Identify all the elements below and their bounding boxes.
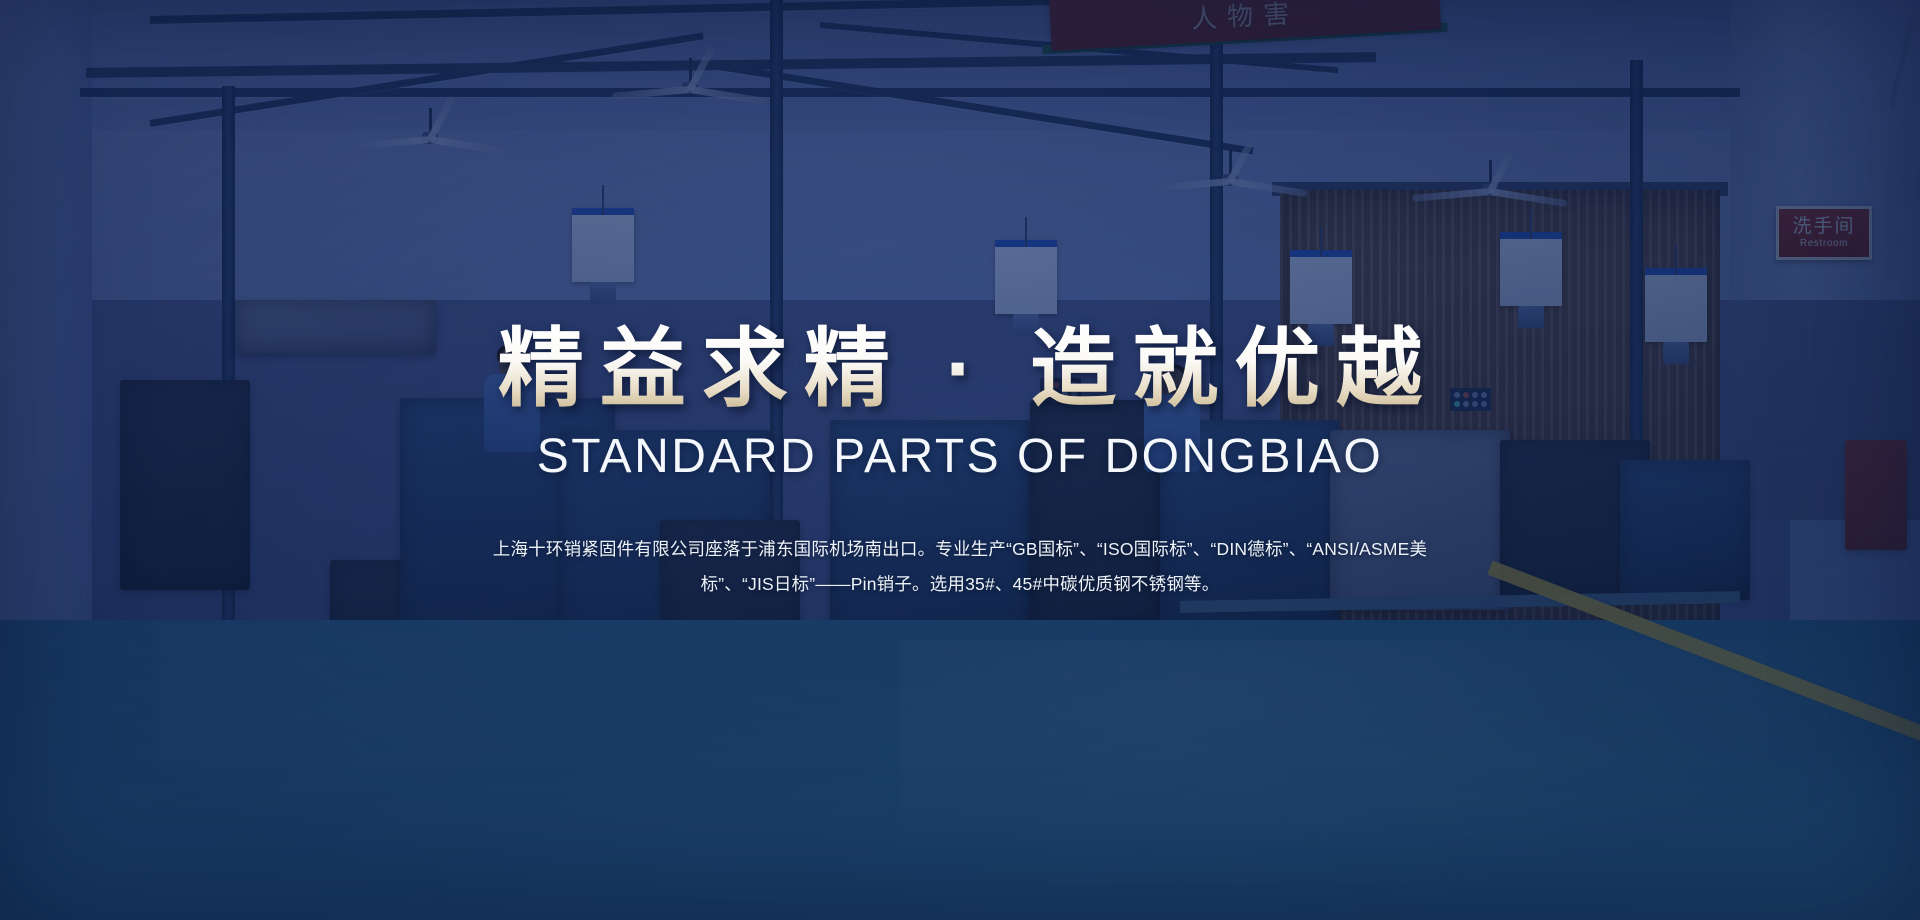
hero-description: 上海十环销紧固件有限公司座落于浦东国际机场南出口。专业生产“GB国标”、“ISO… xyxy=(480,532,1440,602)
hero-text-block: 精益求精 · 造就优越 STANDARD PARTS OF DONGBIAO 上… xyxy=(0,0,1920,920)
hero-subtitle: STANDARD PARTS OF DONGBIAO xyxy=(537,429,1383,484)
hero-banner: 人物害 洗手间 Restroom xyxy=(0,0,1920,920)
page-title: 精益求精 · 造就优越 xyxy=(482,323,1438,416)
